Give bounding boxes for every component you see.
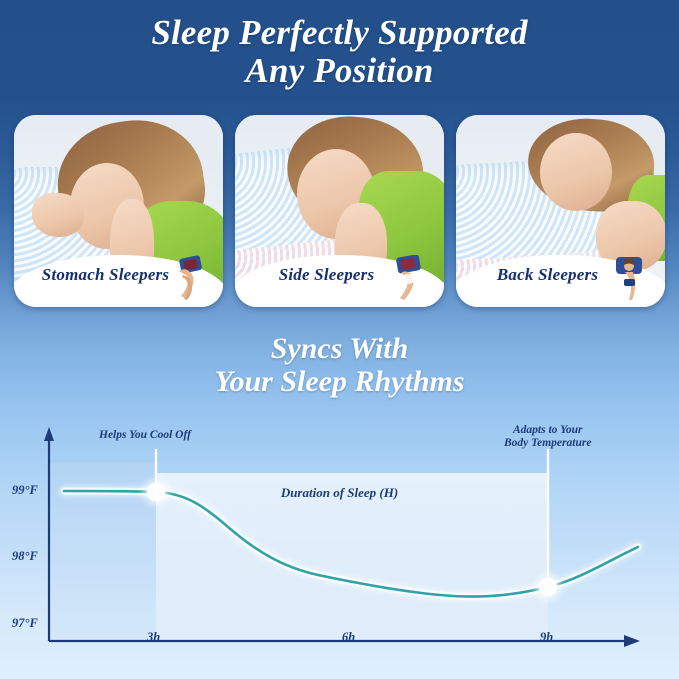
x-tick-6h: 6h <box>342 630 355 645</box>
x-tick-9h: 9h <box>540 630 553 645</box>
annotation-helps-you-cool-off: Helps You Cool Off <box>99 429 191 442</box>
page-title-line-1: Sleep Perfectly Supported <box>0 14 679 52</box>
x-tick-3h: 3h <box>147 630 160 645</box>
duration-of-sleep-label: Duration of Sleep (H) <box>0 485 679 501</box>
infographic-root: Sleep Perfectly Supported Any Position S… <box>0 0 679 679</box>
sleep-temperature-chart: Helps You Cool Off Adapts to Your Body T… <box>0 415 679 679</box>
stomach-sleeper-icon <box>167 255 207 301</box>
section-title-line-2: Your Sleep Rhythms <box>0 365 679 398</box>
annotation-right-line-2: Body Temperature <box>504 437 591 450</box>
y-tick-98f: 98°F <box>12 549 38 564</box>
card-back-sleepers[interactable]: Back Sleepers <box>456 115 665 307</box>
card-side-sleepers[interactable]: Side Sleepers <box>235 115 444 307</box>
card-stomach-sleepers[interactable]: Stomach Sleepers <box>14 115 223 307</box>
section-title: Syncs With Your Sleep Rhythms <box>0 332 679 398</box>
side-sleeper-icon <box>388 255 428 301</box>
sleeper-cards: Stomach Sleepers Side Sleepers <box>14 115 665 307</box>
page-title: Sleep Perfectly Supported Any Position <box>0 14 679 90</box>
annotation-right-line-1: Adapts to Your <box>504 424 591 437</box>
section-title-line-1: Syncs With <box>0 332 679 365</box>
page-title-line-2: Any Position <box>0 52 679 90</box>
chart-svg <box>0 415 679 679</box>
y-tick-99f: 99°F <box>12 483 38 498</box>
y-tick-97f: 97°F <box>12 616 38 631</box>
marker-adapts-temp[interactable] <box>539 578 557 596</box>
annotation-adapts-to-body-temperature: Adapts to Your Body Temperature <box>504 424 591 450</box>
back-sleeper-icon <box>609 255 649 301</box>
y-axis-arrow <box>44 427 54 441</box>
x-axis-arrow <box>624 635 640 647</box>
